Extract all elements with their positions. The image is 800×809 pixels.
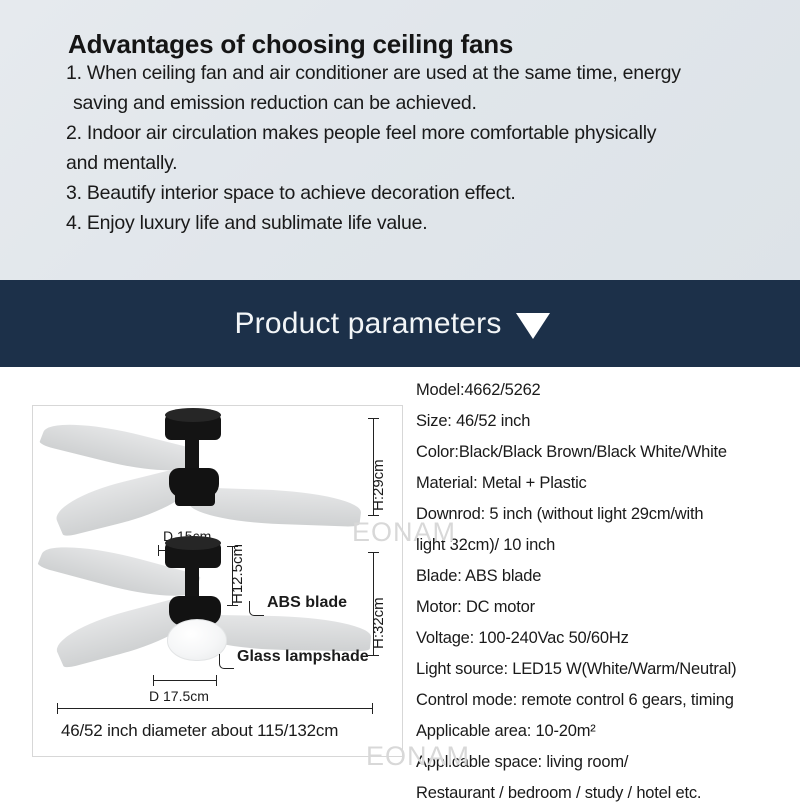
- spec-item-blade: Blade: ABS blade: [416, 561, 800, 592]
- spec-item-model: Model:4662/5262: [416, 375, 800, 406]
- spec-item-downrod-cont: light 32cm)/ 10 inch: [416, 530, 800, 561]
- dimension-line-bottom-diameter: [153, 680, 217, 681]
- advantage-item: 1. When ceiling fan and air conditioner …: [66, 58, 776, 88]
- diagram-caption: 46/52 inch diameter about 115/132cm: [61, 721, 338, 741]
- spec-item-light-source: Light source: LED15 W(White/Warm/Neutral…: [416, 654, 800, 685]
- spec-item-applicable-space: Applicable space: living room/: [416, 747, 800, 778]
- dimension-line-overall-diameter: [57, 708, 373, 709]
- spec-item-downrod: Downrod: 5 inch (without light 29cm/with: [416, 499, 800, 530]
- specifications-section: H:29cm D 15cm: [0, 367, 800, 800]
- caret-down-icon[interactable]: [516, 313, 550, 339]
- spec-item-control-mode: Control mode: remote control 6 gears, ti…: [416, 685, 800, 716]
- leader-line-blade: [249, 601, 264, 616]
- callout-abs-blade: ABS blade: [267, 594, 347, 612]
- advantages-section: Advantages of choosing ceiling fans 1. W…: [0, 0, 800, 280]
- callout-glass-lampshade: Glass lampshade: [237, 648, 369, 666]
- banner-title: Product parameters: [234, 307, 501, 341]
- motor-housing-lower: [175, 490, 215, 506]
- spec-item-size: Size: 46/52 inch: [416, 406, 800, 437]
- advantage-item: 4. Enjoy luxury life and sublimate life …: [66, 208, 776, 238]
- fan-dimension-diagram: H:29cm D 15cm: [32, 405, 403, 757]
- product-detail-page: Advantages of choosing ceiling fans 1. W…: [0, 0, 800, 800]
- advantage-item: 2. Indoor air circulation makes people f…: [66, 118, 776, 148]
- page-title: Advantages of choosing ceiling fans: [68, 29, 513, 60]
- spec-item-applicable-space-cont: Restaurant / bedroom / study / hotel etc…: [416, 778, 800, 809]
- spec-item-voltage: Voltage: 100-240Vac 50/60Hz: [416, 623, 800, 654]
- advantages-list: 1. When ceiling fan and air conditioner …: [66, 58, 776, 238]
- advantage-item: and mentally.: [66, 148, 776, 178]
- spec-item-applicable-area: Applicable area: 10-20m²: [416, 716, 800, 747]
- specification-list: Model:4662/5262 Size: 46/52 inch Color:B…: [416, 375, 800, 809]
- dimension-label-bottom-diameter: D 17.5cm: [149, 688, 209, 704]
- spec-item-color: Color:Black/Black Brown/Black White/Whit…: [416, 437, 800, 468]
- advantage-item: saving and emission reduction can be ach…: [66, 88, 776, 118]
- spec-item-material: Material: Metal + Plastic: [416, 468, 800, 499]
- dimension-label-bottom-height: H:32cm: [370, 597, 387, 649]
- glass-lampshade: [167, 619, 227, 661]
- product-parameters-banner[interactable]: Product parameters: [0, 280, 800, 367]
- dimension-label-top-height: H:29cm: [370, 459, 387, 511]
- ceiling-mount-top: [165, 536, 221, 550]
- leader-line-lampshade: [219, 654, 234, 669]
- dimension-label-motor-height: H12.5cm: [229, 544, 246, 604]
- ceiling-mount-top: [165, 408, 221, 422]
- banner-content: Product parameters: [234, 307, 549, 341]
- spec-item-motor: Motor: DC motor: [416, 592, 800, 623]
- advantage-item: 3. Beautify interior space to achieve de…: [66, 178, 776, 208]
